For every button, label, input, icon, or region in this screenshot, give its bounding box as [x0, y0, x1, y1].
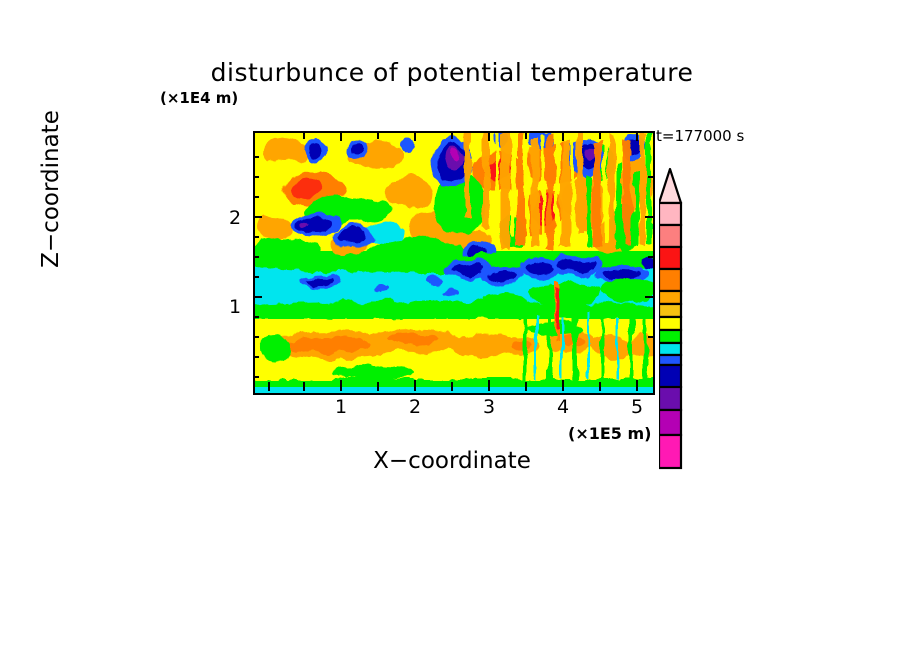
- y-right-major-tick-1: [645, 296, 654, 298]
- x-major-tick-3: [488, 380, 490, 391]
- y-right-minor-tick: [648, 256, 654, 258]
- y-minor-tick: [253, 176, 259, 178]
- x-minor-tick: [451, 382, 453, 391]
- y-minor-tick: [253, 196, 259, 198]
- page-title: disturbunce of potential temperature: [0, 58, 904, 87]
- x-top-minor-tick: [303, 131, 305, 139]
- y-minor-tick: [253, 376, 259, 378]
- x-minor-tick: [268, 382, 270, 391]
- x-top-minor-tick: [599, 131, 601, 139]
- y-minor-tick: [253, 156, 259, 158]
- y-minor-tick: [253, 276, 259, 278]
- time-annotation: t=177000 s: [656, 127, 744, 145]
- contour-plot-area[interactable]: [253, 131, 655, 395]
- x-major-tick-2: [414, 380, 416, 391]
- x-top-major-tick-2: [414, 131, 416, 141]
- x-axis-units-label: (×1E5 m): [568, 424, 651, 443]
- x-top-minor-tick: [525, 131, 527, 139]
- colorbar-swatches-lower: [659, 386, 693, 474]
- x-major-tick-1: [340, 380, 342, 391]
- y-minor-tick: [253, 256, 259, 258]
- y-minor-tick: [253, 356, 259, 358]
- x-tick-label-5: 5: [625, 396, 649, 418]
- figure-canvas: disturbunce of potential temperature (×1…: [0, 0, 904, 654]
- x-minor-tick: [525, 382, 527, 391]
- x-top-minor-tick: [377, 131, 379, 139]
- colorbar[interactable]: 7 2 −1 −5 −12: [659, 167, 693, 401]
- y-tick-label-2: 2: [229, 207, 241, 229]
- x-tick-label-1: 1: [329, 396, 353, 418]
- colorbar-swatches: [659, 167, 693, 397]
- y-tick-label-1: 1: [229, 296, 241, 318]
- y-major-tick-2: [253, 216, 262, 218]
- lower-warm-band: [255, 321, 653, 380]
- x-top-major-tick-1: [340, 131, 342, 141]
- x-top-minor-tick: [451, 131, 453, 139]
- surface-layer: [255, 381, 653, 393]
- y-major-tick-1: [253, 296, 262, 298]
- x-minor-tick: [599, 382, 601, 391]
- y-minor-tick: [253, 336, 259, 338]
- x-top-major-tick-4: [562, 131, 564, 141]
- y-axis-units-label: (×1E4 m): [160, 89, 238, 107]
- y-right-major-tick-2: [645, 216, 654, 218]
- y-axis-title: Z−coordinate: [38, 104, 64, 274]
- y-right-minor-tick: [648, 176, 654, 178]
- y-minor-tick: [253, 236, 259, 238]
- x-minor-tick: [377, 382, 379, 391]
- x-tick-label-4: 4: [551, 396, 575, 418]
- x-major-tick-5: [636, 380, 638, 391]
- contour-field: [255, 133, 653, 393]
- x-axis-title: X−coordinate: [253, 448, 651, 474]
- y-right-minor-tick: [648, 336, 654, 338]
- x-tick-label-2: 2: [403, 396, 427, 418]
- x-top-major-tick-3: [488, 131, 490, 141]
- cyan-stable-layer: [255, 255, 653, 317]
- x-tick-label-3: 3: [477, 396, 501, 418]
- x-major-tick-4: [562, 380, 564, 391]
- y-minor-tick: [253, 316, 259, 318]
- x-top-major-tick-5: [636, 131, 638, 141]
- x-minor-tick: [303, 382, 305, 391]
